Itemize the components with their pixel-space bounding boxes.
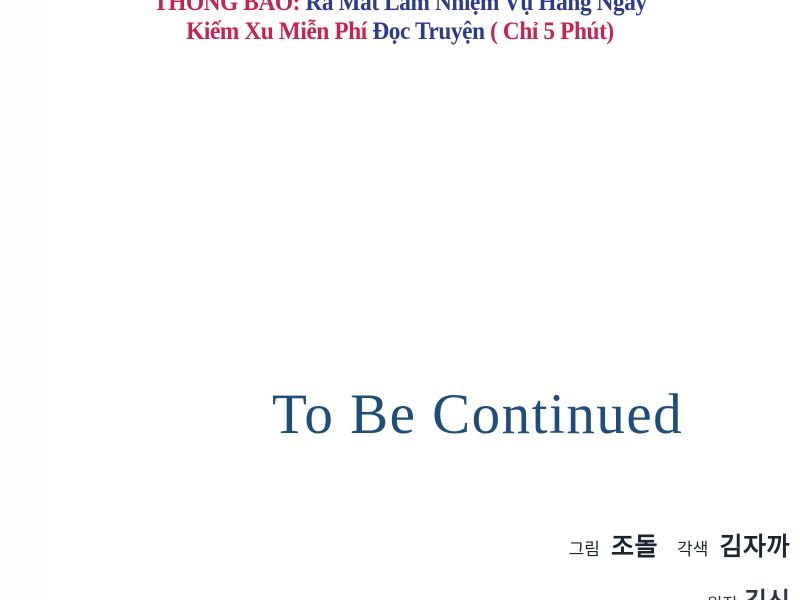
credit-adaptation: 각색 김자까 (677, 527, 790, 563)
promo-line1-red-text: THÔNG BÁO: (153, 0, 300, 16)
credit-original-role: 원작 (707, 595, 738, 600)
promo-banner[interactable]: THÔNG BÁO: Ra Mắt Làm Nhiệm Vụ Hàng Ngày… (0, 0, 800, 46)
credit-art: 그림 조돌 (569, 527, 658, 563)
promo-line2-red-text-end: ( Chỉ 5 Phút) (490, 18, 614, 45)
credit-adaptation-role: 각색 (677, 540, 708, 560)
promo-line2-blue-text: Đọc Truyện (372, 18, 484, 45)
comic-panel-page: THÔNG BÁO: Ra Mắt Làm Nhiệm Vụ Hàng Ngày… (0, 0, 800, 600)
credit-adaptation-name: 김자까 (719, 532, 790, 561)
credits-clipped-row: 원작김신 (440, 588, 790, 600)
credits-line: 그림 조돌 각색 김자까 (440, 527, 790, 563)
promo-line2-red-text-start: Kiếm Xu Miễn Phí (186, 18, 367, 45)
promo-banner-line-1: THÔNG BÁO: Ra Mắt Làm Nhiệm Vụ Hàng Ngày (28, 0, 772, 17)
credit-art-name: 조돌 (611, 532, 658, 561)
promo-banner-line-2: Kiếm Xu Miễn Phí Đọc Truyện ( Chỉ 5 Phút… (28, 18, 772, 46)
credit-original-name: 김신 (744, 588, 790, 600)
paper-seam-edge (0, 0, 46, 600)
to-be-continued-text: To Be Continued (272, 383, 792, 447)
credit-original: 원작김신 (440, 588, 790, 600)
credit-art-role: 그림 (569, 540, 600, 560)
promo-line1-blue-text: Ra Mắt Làm Nhiệm Vụ Hàng Ngày (305, 0, 646, 16)
